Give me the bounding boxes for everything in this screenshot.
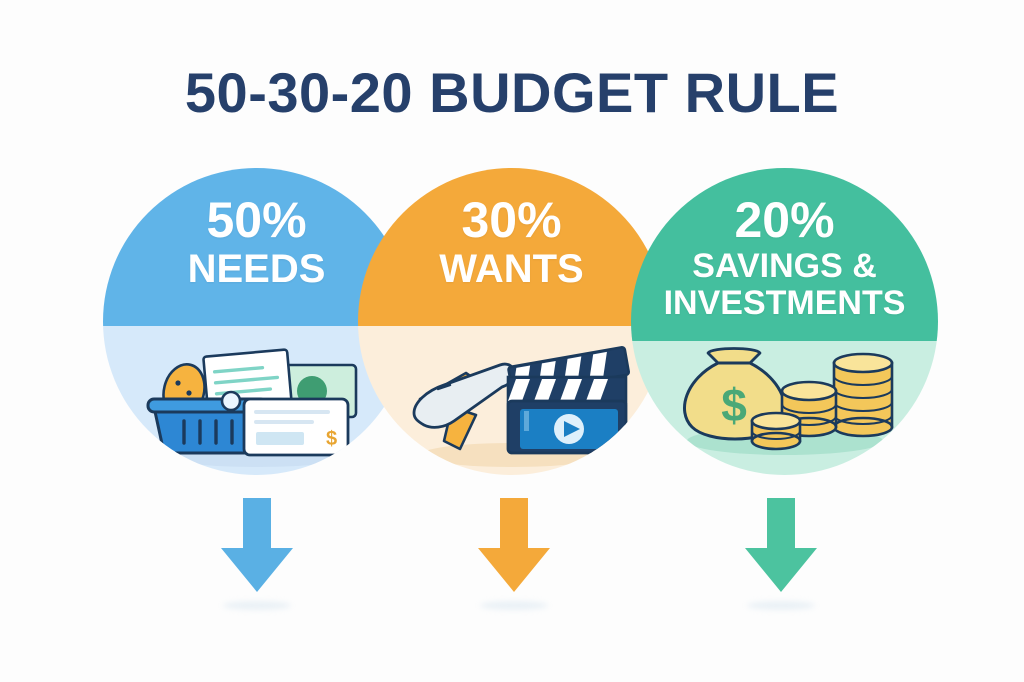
segment-label-savings-line1: SAVINGS & (639, 249, 930, 284)
arrow-shadow (223, 601, 291, 610)
airplane-icon (414, 364, 514, 449)
arrow-down-savings (741, 498, 821, 594)
segment-percent-savings: 20% (639, 194, 930, 247)
svg-text:$: $ (326, 428, 337, 450)
segment-text-wants: 30% WANTS (358, 194, 665, 290)
arrow-shadow (480, 601, 548, 610)
wants-illustration (392, 329, 632, 469)
segment-circle-savings: 20% SAVINGS & INVESTMENTS $ (631, 168, 938, 475)
segment-circle-wants: 30% WANTS (358, 168, 665, 475)
segment-text-savings: 20% SAVINGS & INVESTMENTS (631, 194, 938, 321)
savings-illustration: $ (660, 329, 910, 457)
arrow-down-wants (474, 498, 554, 594)
segment-label-savings-line2: INVESTMENTS (639, 286, 930, 321)
play-button-icon (554, 414, 584, 444)
dollar-sign-icon: $ (721, 379, 747, 431)
needs-illustration: $ (132, 329, 382, 469)
arrow-down-icon (474, 498, 554, 594)
infographic-canvas: 50-30-20 BUDGET RULE 50% NEEDS (0, 0, 1024, 682)
arrow-down-icon (741, 498, 821, 594)
segment-artwork-savings: $ (631, 329, 938, 469)
segment-artwork-wants (358, 329, 665, 469)
arrow-down-icon (217, 498, 297, 594)
arrow-shadow (747, 601, 815, 610)
bill-card-icon: $ (244, 399, 348, 455)
segment-percent-wants: 30% (366, 194, 657, 247)
page-title: 50-30-20 BUDGET RULE (0, 60, 1024, 125)
arrow-down-needs (217, 498, 297, 594)
movie-clapperboard-icon (508, 347, 629, 453)
segment-label-wants: WANTS (366, 249, 657, 291)
